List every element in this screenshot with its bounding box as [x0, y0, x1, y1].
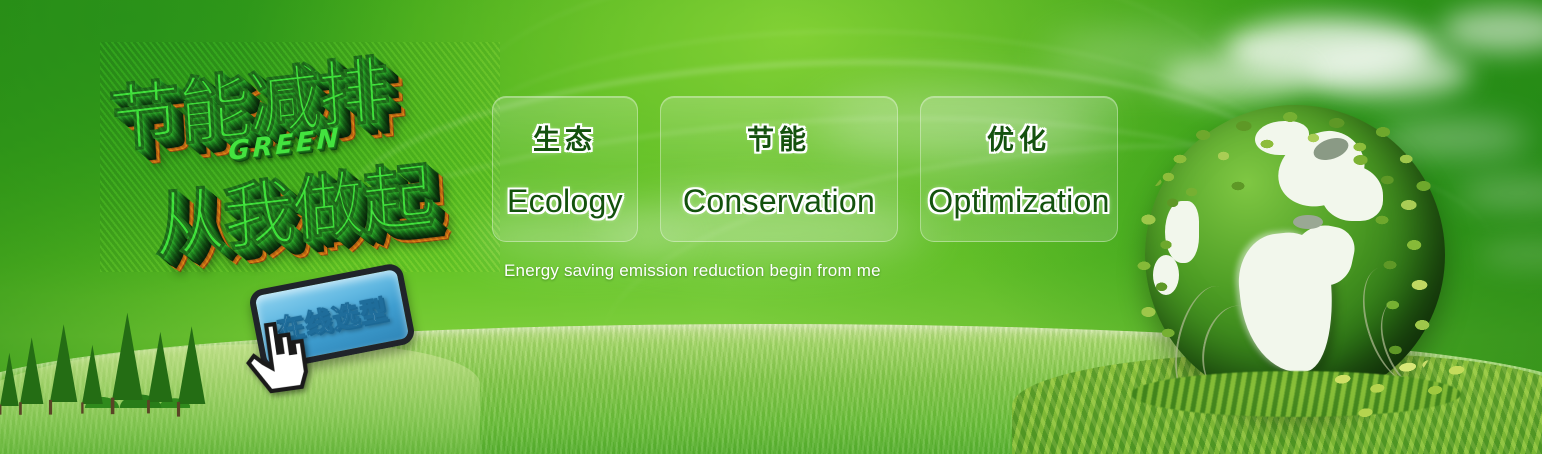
feature-card-ecology[interactable]: 生态 Ecology: [492, 96, 638, 242]
feature-card-optimization[interactable]: 优化 Optimization: [920, 96, 1118, 242]
banner-subtitle: Energy saving emission reduction begin f…: [504, 261, 881, 281]
feature-card-cn-label: 节能: [747, 118, 811, 157]
feature-card-cn-label: 生态: [533, 118, 597, 157]
feature-card-en-label: Conservation: [683, 183, 875, 220]
eco-promo-banner: 节能减排 从我做起 GREEN 在线选型 生态 Ecology 节能 Conse…: [0, 0, 1542, 454]
feature-card-conservation[interactable]: 节能 Conservation: [660, 96, 898, 242]
feature-card-list: 生态 Ecology 节能 Conservation 优化 Optimizati…: [492, 96, 1118, 242]
feature-card-en-label: Ecology: [507, 183, 623, 220]
leafy-earth-globe-icon: [1137, 105, 1453, 435]
headline-3d-text: 节能减排 从我做起 GREEN: [100, 42, 500, 272]
feature-card-en-label: Optimization: [928, 183, 1109, 220]
pointing-hand-cursor-icon: [239, 318, 314, 398]
feature-card-cn-label: 优化: [987, 118, 1051, 157]
